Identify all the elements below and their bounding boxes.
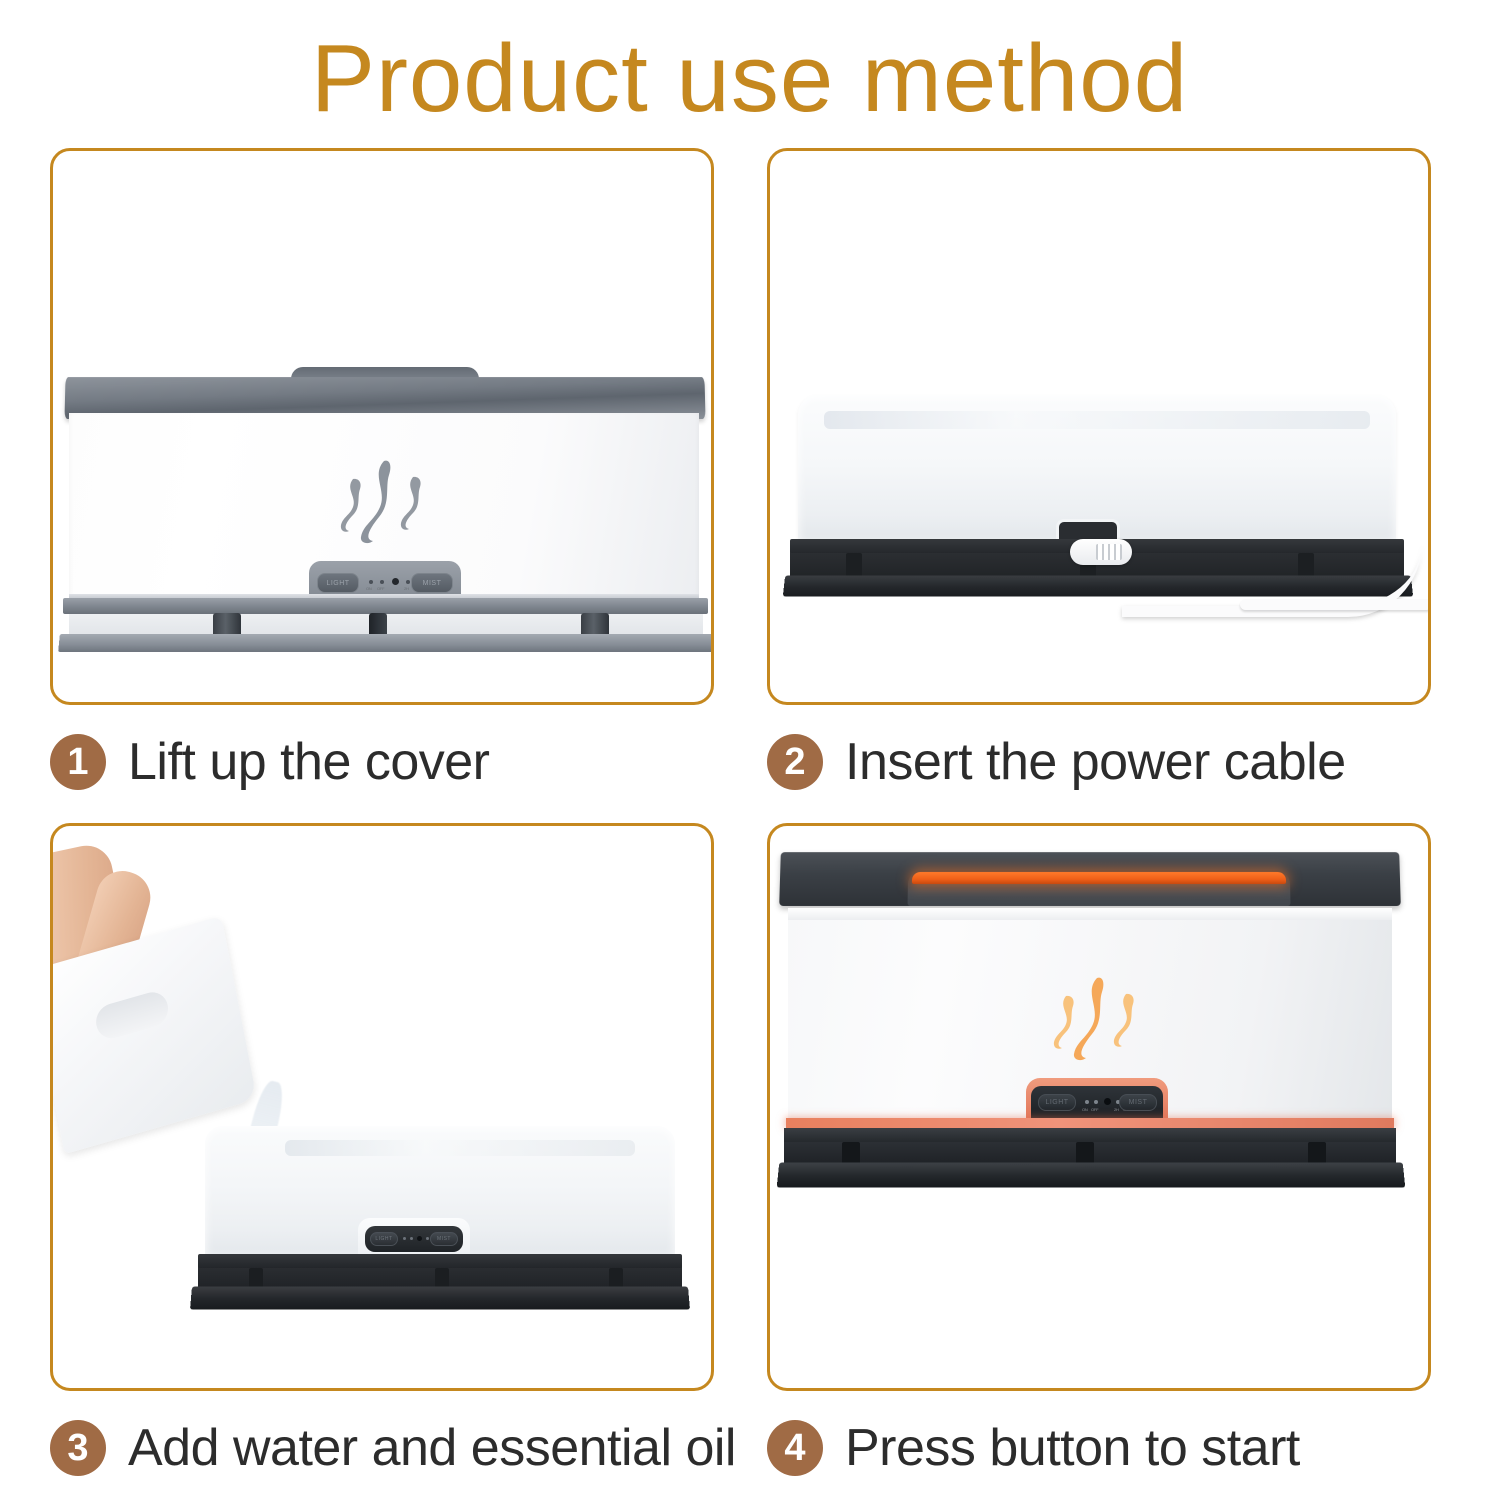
step-1-caption: 1 Lift up the cover xyxy=(50,727,714,797)
control-panel-3: LIGHT MIST xyxy=(365,1226,463,1252)
base-tray-1 xyxy=(58,634,714,652)
step-label-3: Add water and essential oil xyxy=(128,1418,736,1478)
mist-button-label-3: MIST xyxy=(437,1236,451,1242)
steps-grid: LIGHT ON OFF 2H 4H MIST xyxy=(50,148,1450,1478)
mist-button-label-4: MIST xyxy=(1129,1099,1148,1106)
power-button-4[interactable] xyxy=(1104,1098,1111,1105)
page-title: Product use method xyxy=(0,24,1499,134)
device-body-4: LIGHT ON OFF 2H 4H xyxy=(788,920,1392,1120)
led-label-on-1: ON xyxy=(366,586,372,591)
cup-spout xyxy=(93,988,171,1042)
light-button-3[interactable]: LIGHT xyxy=(370,1232,398,1246)
step-card-3: LIGHT MIST xyxy=(50,823,714,1483)
flame-glow-slit xyxy=(912,872,1286,884)
mist-waves-icon xyxy=(327,453,437,545)
mist-waves-svg xyxy=(327,453,437,545)
device-illustration-powered-on: LIGHT ON OFF 2H 4H xyxy=(770,826,1428,1388)
base-plate-1 xyxy=(63,598,708,614)
flame-waves-icon xyxy=(1040,968,1150,1064)
step-2-photo xyxy=(767,148,1431,705)
led-on-1 xyxy=(369,580,373,584)
base-plate-3 xyxy=(198,1254,682,1268)
device-lid-4 xyxy=(779,852,1401,906)
step-badge-3: 3 xyxy=(50,1420,106,1476)
power-button-3[interactable] xyxy=(417,1236,422,1241)
light-button-4[interactable]: LIGHT xyxy=(1038,1094,1076,1111)
step-card-1: LIGHT ON OFF 2H 4H MIST xyxy=(50,148,714,797)
light-button-1[interactable]: LIGHT xyxy=(317,573,359,593)
step-4-caption: 4 Press button to start xyxy=(767,1413,1431,1483)
step-4-photo: LIGHT ON OFF 2H 4H xyxy=(767,823,1431,1391)
step-2-caption: 2 Insert the power cable xyxy=(767,727,1431,797)
control-panel-1: LIGHT ON OFF 2H 4H MIST xyxy=(309,561,461,601)
mist-button-3[interactable]: MIST xyxy=(430,1232,458,1246)
power-cable-tail-2 xyxy=(1240,599,1431,610)
led-2h-1 xyxy=(406,580,410,584)
step-label-2: Insert the power cable xyxy=(845,732,1346,792)
power-button-1[interactable] xyxy=(392,578,399,585)
base-plate-4 xyxy=(784,1128,1396,1142)
step-card-2: 2 Insert the power cable xyxy=(767,148,1431,797)
step-label-1: Lift up the cover xyxy=(128,732,490,792)
control-panel-bezel-4: LIGHT ON OFF 2H 4H xyxy=(1026,1078,1168,1120)
led-off-4 xyxy=(1094,1100,1098,1104)
led-label-off-4: OFF xyxy=(1091,1107,1098,1112)
flame-waves-svg xyxy=(1040,968,1150,1064)
led-off-3 xyxy=(410,1237,413,1240)
step-badge-1: 1 xyxy=(50,734,106,790)
control-panel-4: LIGHT ON OFF 2H 4H xyxy=(1031,1086,1163,1120)
mist-button-1[interactable]: MIST xyxy=(411,573,453,593)
accent-light-strip-4 xyxy=(786,1118,1394,1128)
base-tray-3 xyxy=(190,1286,690,1309)
step-badge-4: 4 xyxy=(767,1420,823,1476)
led-on-3 xyxy=(403,1237,406,1240)
led-2h-3 xyxy=(426,1237,429,1240)
base-tray-4 xyxy=(777,1162,1406,1187)
product-instruction-infographic: Product use method xyxy=(0,0,1499,1499)
led-off-1 xyxy=(380,580,384,584)
led-label-on-4: ON xyxy=(1082,1107,1088,1112)
light-button-label-4: LIGHT xyxy=(1045,1099,1068,1106)
device-illustration-lid-lifted: LIGHT ON OFF 2H 4H MIST xyxy=(53,151,711,702)
mist-button-4[interactable]: MIST xyxy=(1119,1094,1157,1111)
step-3-photo: LIGHT MIST xyxy=(50,823,714,1391)
power-plug-icon xyxy=(1070,539,1132,565)
step-1-photo: LIGHT ON OFF 2H 4H MIST xyxy=(50,148,714,705)
hand-pouring-cup-icon xyxy=(50,842,283,1172)
led-label-2h-4: 2H xyxy=(1114,1107,1119,1112)
step-badge-2: 2 xyxy=(767,734,823,790)
light-button-label-3: LIGHT xyxy=(375,1236,392,1242)
led-label-2h-1: 2H xyxy=(404,586,409,591)
device-illustration-cable xyxy=(770,151,1428,702)
mist-button-label-1: MIST xyxy=(423,580,442,587)
step-card-4: LIGHT ON OFF 2H 4H xyxy=(767,823,1431,1483)
light-button-label-1: LIGHT xyxy=(326,580,349,587)
step-3-caption: 3 Add water and essential oil xyxy=(50,1413,714,1483)
device-body-1: LIGHT ON OFF 2H 4H MIST xyxy=(69,413,699,601)
step-label-4: Press button to start xyxy=(845,1418,1300,1478)
led-label-off-1: OFF xyxy=(377,586,384,591)
device-illustration-pour-water: LIGHT MIST xyxy=(53,826,711,1388)
led-on-4 xyxy=(1085,1100,1089,1104)
